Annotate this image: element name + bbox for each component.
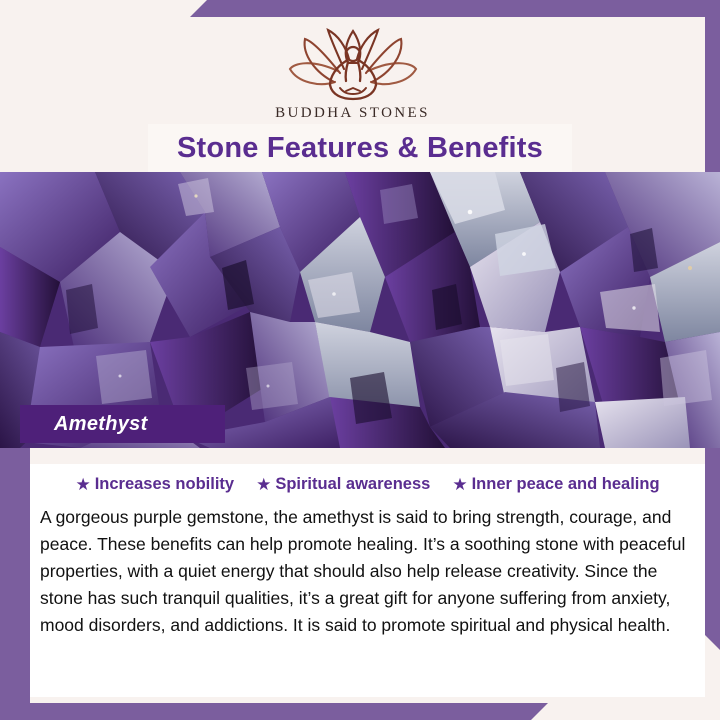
page-title-card: Stone Features & Benefits <box>148 124 572 172</box>
decorative-band-bottom <box>0 703 548 720</box>
brand-logo: BUDDHA STONES <box>0 25 705 122</box>
content-top-strip <box>30 448 705 464</box>
benefit-item: ★ Inner peace and healing <box>452 475 659 494</box>
lotus-meditation-icon <box>278 25 428 103</box>
stone-description: A gorgeous purple gemstone, the amethyst… <box>30 500 705 639</box>
stone-name-label: Amethyst <box>20 413 148 436</box>
benefit-item: ★ Increases nobility <box>75 475 234 494</box>
infographic-page: BUDDHA STONES Stone Features & Benefits <box>0 0 720 720</box>
content-card: ★ Increases nobility ★ Spiritual awarene… <box>30 448 705 697</box>
star-icon: ★ <box>256 476 271 493</box>
benefit-label: Spiritual awareness <box>275 475 430 494</box>
star-icon: ★ <box>452 476 467 493</box>
decorative-band-top <box>190 0 720 17</box>
decorative-band-left <box>0 448 30 720</box>
header: BUDDHA STONES Stone Features & Benefits <box>0 17 705 172</box>
benefit-label: Inner peace and healing <box>472 475 660 494</box>
stone-name-banner: Amethyst <box>20 405 225 443</box>
benefit-label: Increases nobility <box>95 475 234 494</box>
benefits-row: ★ Increases nobility ★ Spiritual awarene… <box>30 464 705 500</box>
brand-name: BUDDHA STONES <box>0 105 705 122</box>
benefit-item: ★ Spiritual awareness <box>256 475 430 494</box>
page-title: Stone Features & Benefits <box>177 132 543 165</box>
star-icon: ★ <box>75 476 90 493</box>
